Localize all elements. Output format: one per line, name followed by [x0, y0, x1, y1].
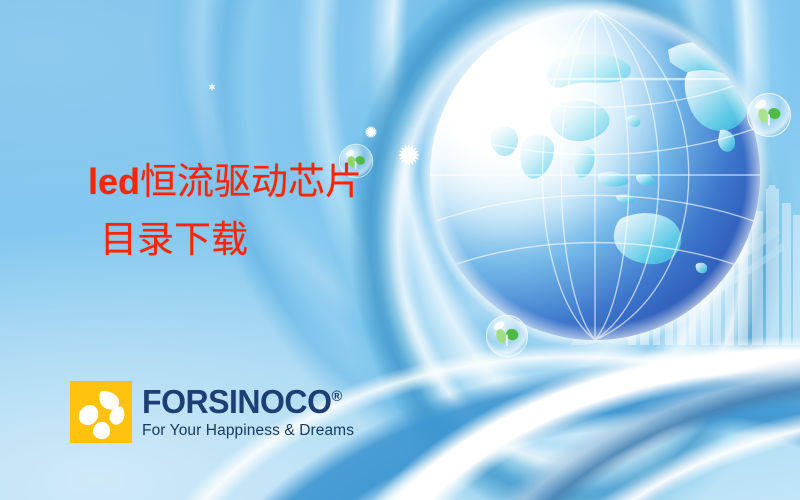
- headline-line-1: led恒流驱动芯片: [88, 164, 362, 201]
- headline-latin-led: led: [88, 161, 140, 202]
- bubble-plant-icon-3: [746, 92, 792, 138]
- four-petal-pinwheel-icon: [70, 381, 132, 443]
- sparkle-flower-icon-3: [207, 82, 217, 92]
- logo-tagline: For Your Happiness & Dreams: [142, 423, 354, 439]
- company-logo: FORSINOCO® For Your Happiness & Dreams: [70, 381, 354, 443]
- logo-wordmark: FORSINOCO®: [142, 385, 348, 418]
- logo-text-block: FORSINOCO® For Your Happiness & Dreams: [142, 385, 354, 439]
- sparkle-flower-icon-2: [396, 142, 422, 168]
- promotional-banner: led恒流驱动芯片 目录下载 FORSINOCO® For Your Happi…: [0, 0, 800, 500]
- registered-trademark-icon: ®: [331, 388, 342, 405]
- headline-text: led恒流驱动芯片 目录下载: [88, 164, 362, 259]
- headline-line-2: 目录下载: [100, 222, 362, 259]
- headline-cjk-product: 恒流驱动芯片: [140, 162, 362, 203]
- sparkle-flower-icon-1: [363, 124, 379, 140]
- bubble-plant-icon-2: [485, 314, 529, 358]
- logo-wordmark-text: FORSINOCO: [142, 383, 331, 420]
